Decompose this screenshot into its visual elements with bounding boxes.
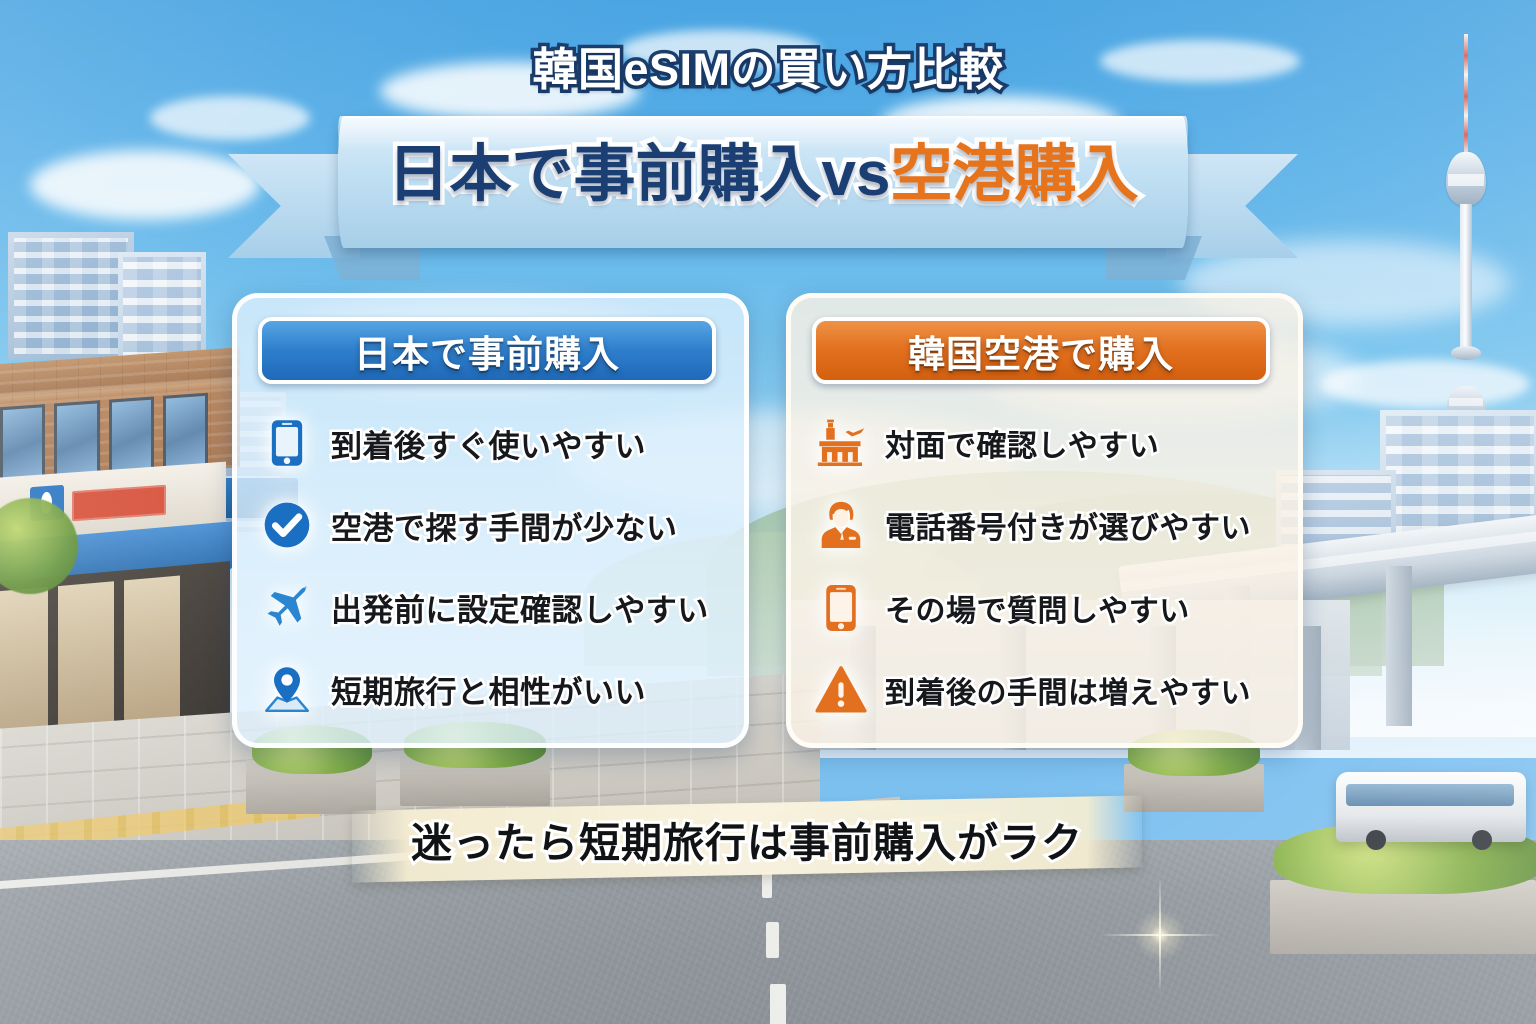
card-header-japan: 日本で事前購入 — [258, 317, 716, 384]
card-korea-airport-purchase: 韓国空港で購入 — [786, 293, 1303, 748]
staff-person-icon — [813, 497, 869, 553]
ribbon-title-part1: 日本で事前購入vs — [388, 140, 891, 209]
list-item: 空港で探す手間が少ない — [253, 497, 730, 553]
card-title-japan: 日本で事前購入 — [354, 324, 620, 378]
list-item-label: 空港で探す手間が少ない — [331, 503, 678, 548]
airport-terminal-icon — [813, 415, 869, 471]
list-item-label: 到着後の手間は増えやすい — [885, 668, 1251, 712]
smartphone-icon — [259, 415, 315, 471]
list-item-label: 出発前に設定確認しやすい — [331, 585, 709, 630]
list-item-label: 到着後すぐ使いやすい — [331, 421, 646, 466]
check-circle-icon — [259, 497, 315, 553]
list-item: 到着後すぐ使いやすい — [253, 415, 730, 471]
list-item: 短期旅行と相性がいい — [253, 662, 730, 718]
list-item-label: 電話番号付きが選びやすい — [885, 503, 1251, 547]
list-item-label: その場で質問しやすい — [885, 586, 1190, 630]
footer-banner: 迷ったら短期旅行は事前購入がラク — [352, 795, 1142, 882]
page-kicker: 韓国eSIMの買い方比較 — [0, 33, 1536, 98]
list-item-label: 短期旅行と相性がいい — [331, 667, 646, 712]
warning-triangle-icon — [813, 662, 869, 718]
list-item-label: 対面で確認しやすい — [885, 421, 1159, 465]
benefit-list-korea: 対面で確認しやすい 電話番号付きが選びやすい — [807, 402, 1284, 731]
footer-text: 迷ったら短期旅行は事前購入がラク — [411, 809, 1083, 869]
card-header-korea: 韓国空港で購入 — [812, 317, 1270, 384]
list-item: 対面で確認しやすい — [807, 415, 1284, 471]
ribbon-title-part2: 空港購入 — [890, 140, 1138, 209]
list-item: 到着後の手間は増えやすい — [807, 662, 1284, 718]
foreground-layer: 韓国eSIMの買い方比較 日本で事前購入vs空港購入 日本で事前購入 到着後すぐ… — [0, 0, 1536, 1024]
card-title-korea: 韓国空港で購入 — [908, 324, 1174, 378]
ribbon-banner: 日本で事前購入vs空港購入 — [228, 108, 1298, 258]
card-japan-advance-purchase: 日本で事前購入 到着後すぐ使いやすい 空港で探す手間が少ない — [232, 293, 749, 748]
smartphone-outline-icon — [813, 580, 869, 636]
ribbon-title: 日本で事前購入vs空港購入 — [228, 144, 1298, 206]
infographic-canvas: 韓国eSIMの買い方比較 日本で事前購入vs空港購入 日本で事前購入 到着後すぐ… — [0, 0, 1536, 1024]
benefit-list-japan: 到着後すぐ使いやすい 空港で探す手間が少ない 出発前に設定確認しやすい — [253, 402, 730, 731]
airplane-icon — [259, 580, 315, 636]
map-pin-icon — [259, 662, 315, 718]
list-item: その場で質問しやすい — [807, 580, 1284, 636]
list-item: 出発前に設定確認しやすい — [253, 580, 730, 636]
list-item: 電話番号付きが選びやすい — [807, 497, 1284, 553]
